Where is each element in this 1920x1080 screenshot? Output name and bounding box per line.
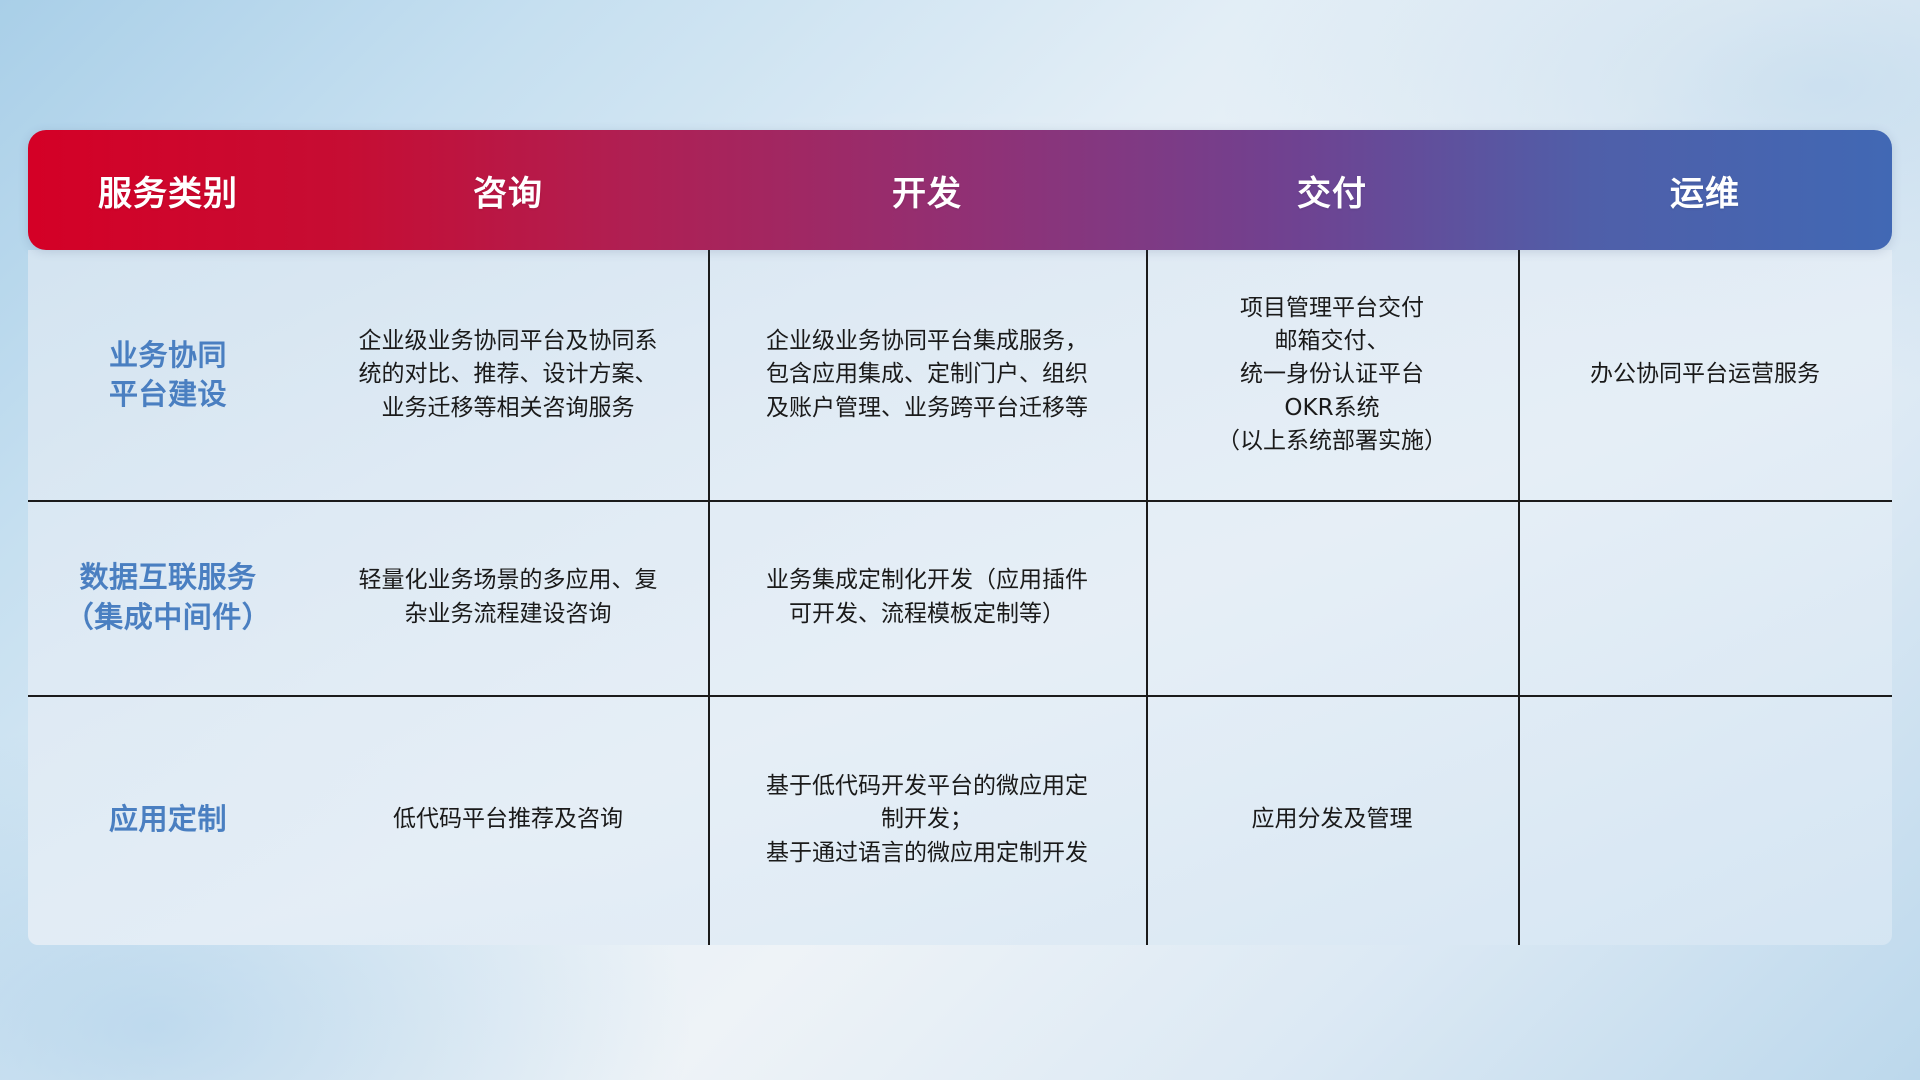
column-divider-consult-dev (708, 695, 710, 945)
cell-development: 业务集成定制化开发（应用插件 可开发、流程模板定制等） (708, 500, 1146, 695)
cell-operations: 办公协同平台运营服务 (1518, 250, 1892, 500)
service-matrix-table: 服务类别 咨询 开发 交付 运维 业务协同 平台建设 企业级业务协同平台及协同系… (28, 130, 1892, 950)
row-category-cell: 业务协同 平台建设 (28, 250, 308, 500)
cell-development: 基于低代码开发平台的微应用定 制开发； 基于通过语言的微应用定制开发 (708, 695, 1146, 945)
column-divider-delivery-ops (1518, 250, 1520, 500)
cell-consulting: 轻量化业务场景的多应用、复 杂业务流程建设咨询 (308, 500, 708, 695)
cell-operations (1518, 695, 1892, 945)
cell-delivery: 项目管理平台交付 邮箱交付、 统一身份认证平台 OKR系统 （以上系统部署实施） (1146, 250, 1518, 500)
cell-consulting: 低代码平台推荐及咨询 (308, 695, 708, 945)
cell-delivery (1146, 500, 1518, 695)
column-divider-dev-delivery (1146, 500, 1148, 695)
column-header-service-category: 服务类别 (28, 130, 308, 250)
cell-operations (1518, 500, 1892, 695)
table-body: 业务协同 平台建设 企业级业务协同平台及协同系 统的对比、推荐、设计方案、 业务… (28, 250, 1892, 945)
row-category-label: 业务协同 平台建设 (109, 336, 227, 414)
row-category-cell: 数据互联服务 （集成中间件） (28, 500, 308, 695)
table-row: 数据互联服务 （集成中间件） 轻量化业务场景的多应用、复 杂业务流程建设咨询 业… (28, 500, 1892, 695)
table-row: 业务协同 平台建设 企业级业务协同平台及协同系 统的对比、推荐、设计方案、 业务… (28, 250, 1892, 500)
column-header-consulting: 咨询 (308, 130, 708, 250)
cell-consulting: 企业级业务协同平台及协同系 统的对比、推荐、设计方案、 业务迁移等相关咨询服务 (308, 250, 708, 500)
row-category-cell: 应用定制 (28, 695, 308, 945)
table-header-row: 服务类别 咨询 开发 交付 运维 (28, 130, 1892, 250)
row-category-label: 数据互联服务 （集成中间件） (65, 558, 272, 636)
cell-development: 企业级业务协同平台集成服务， 包含应用集成、定制门户、组织 及账户管理、业务跨平… (708, 250, 1146, 500)
column-header-operations: 运维 (1518, 130, 1892, 250)
cell-delivery: 应用分发及管理 (1146, 695, 1518, 945)
column-divider-delivery-ops (1518, 500, 1520, 695)
column-divider-dev-delivery (1146, 250, 1148, 500)
column-divider-delivery-ops (1518, 695, 1520, 945)
column-divider-consult-dev (708, 250, 710, 500)
column-divider-consult-dev (708, 500, 710, 695)
column-divider-dev-delivery (1146, 695, 1148, 945)
row-category-label: 应用定制 (109, 800, 227, 839)
column-header-delivery: 交付 (1146, 130, 1518, 250)
table-row: 应用定制 低代码平台推荐及咨询 基于低代码开发平台的微应用定 制开发； 基于通过… (28, 695, 1892, 945)
column-header-development: 开发 (708, 130, 1146, 250)
